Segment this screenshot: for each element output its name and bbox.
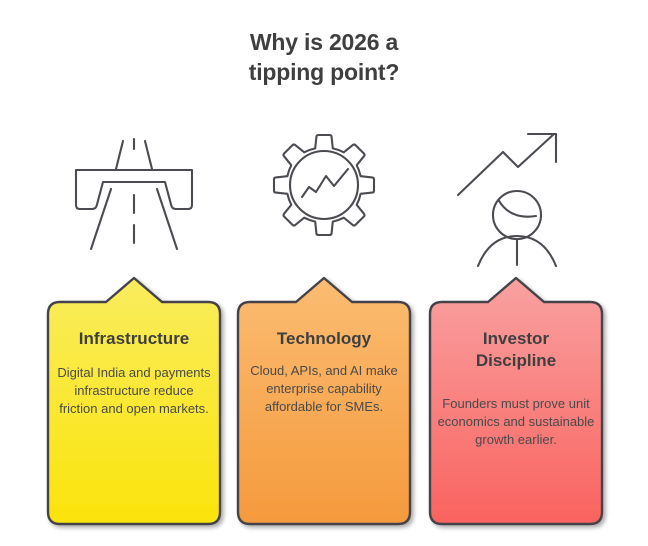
card-technology[interactable]: Technology Cloud, APIs, and AI make ente…	[238, 278, 410, 522]
column-infrastructure: Infrastructure Digital India and payment…	[34, 0, 234, 546]
card-infrastructure[interactable]: Infrastructure Digital India and payment…	[48, 278, 220, 522]
gear-chart-icon	[224, 125, 424, 265]
road-overpass-icon	[34, 125, 234, 265]
column-investor-discipline: Investor Discipline Founders must prove …	[416, 0, 616, 546]
column-technology: Technology Cloud, APIs, and AI make ente…	[224, 0, 424, 546]
card-title: Investor Discipline	[438, 328, 594, 372]
person-growth-arrow-icon	[416, 125, 616, 265]
cards-row: Infrastructure Digital India and payment…	[0, 0, 648, 546]
card-body: Founders must prove unit economics and s…	[436, 395, 596, 449]
card-body: Digital India and payments infrastructur…	[54, 364, 214, 418]
card-investor-discipline[interactable]: Investor Discipline Founders must prove …	[430, 278, 602, 522]
card-body: Cloud, APIs, and AI make enterprise capa…	[244, 362, 404, 416]
card-title: Technology	[246, 328, 402, 350]
card-title: Infrastructure	[56, 328, 212, 350]
